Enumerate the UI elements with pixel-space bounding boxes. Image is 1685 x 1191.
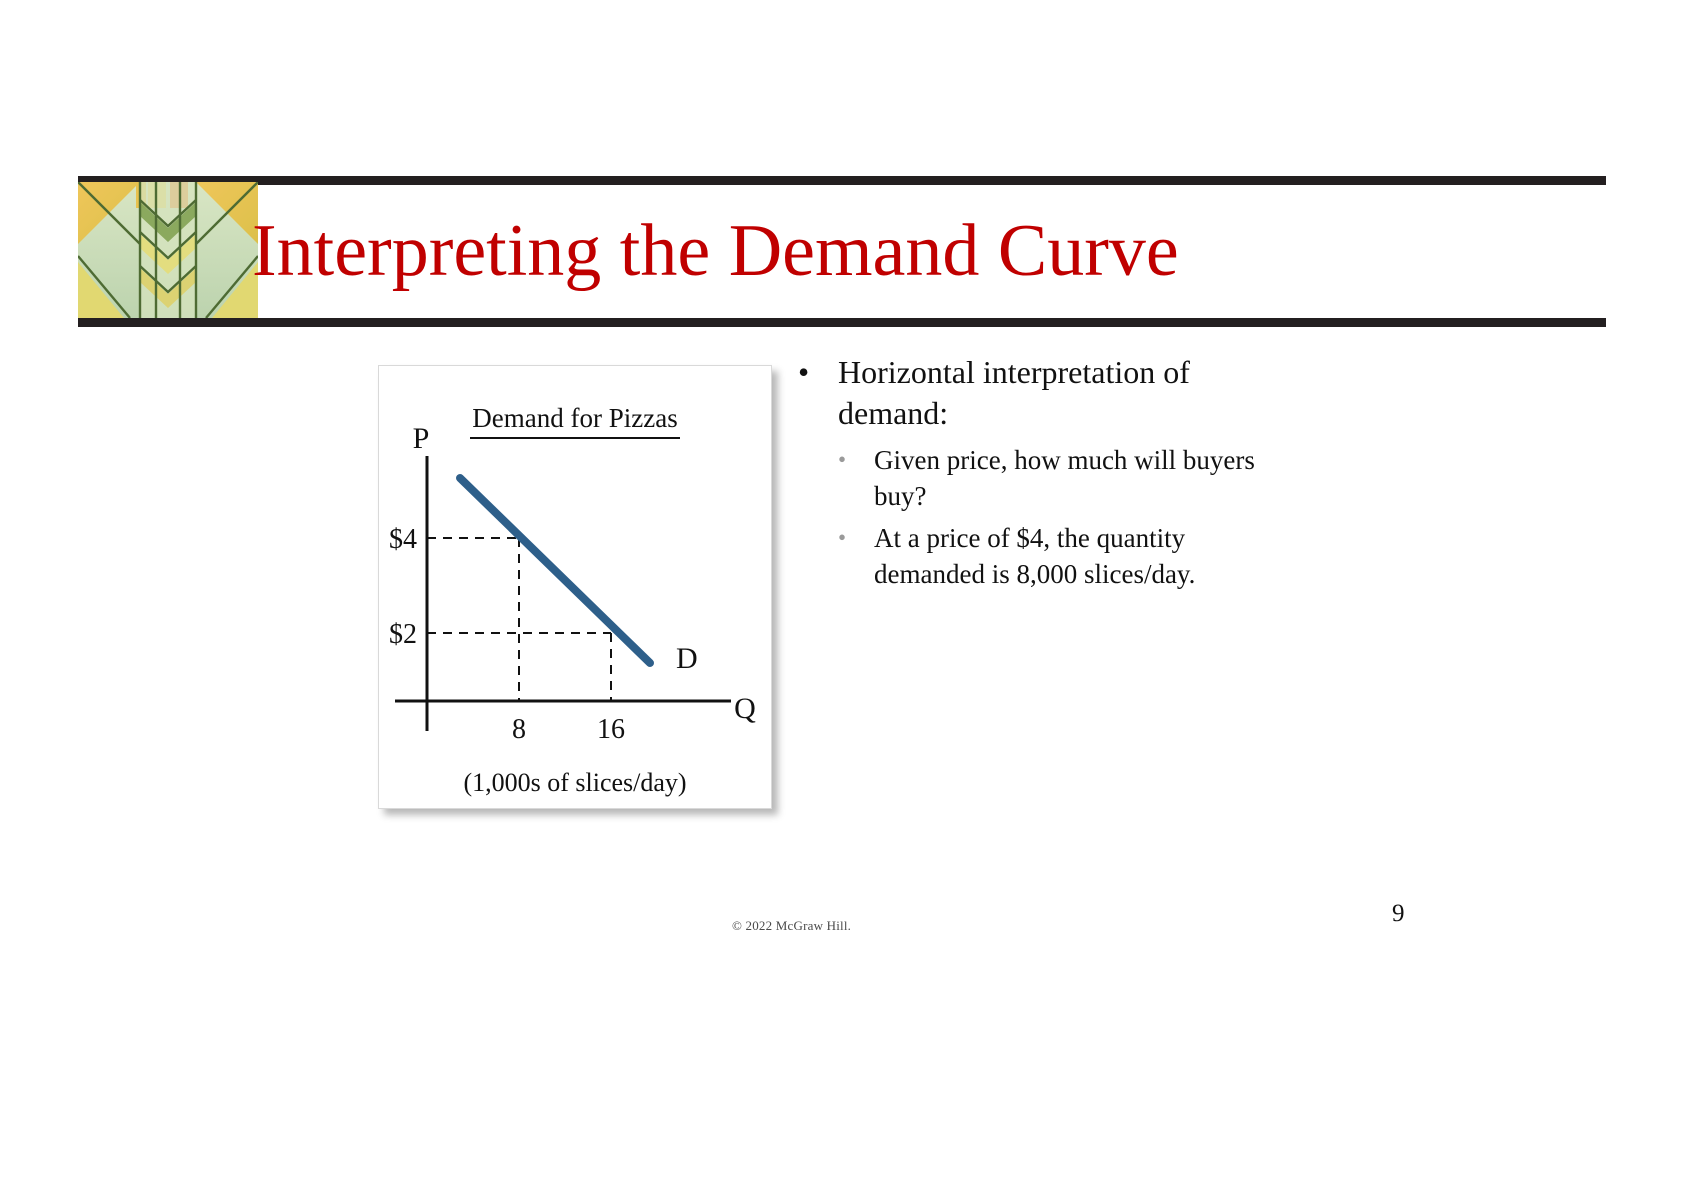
stained-glass-art-deco-panel xyxy=(78,182,258,318)
demand-curve-series-label: D xyxy=(676,642,698,675)
bullet-marker-icon: • xyxy=(798,352,809,393)
slide-canvas: Interpreting the Demand Curve Demand for… xyxy=(0,0,1685,1191)
x-tick-label-16: 16 xyxy=(597,714,625,745)
y-axis-label: P xyxy=(413,426,430,455)
bullet-marker-icon: • xyxy=(838,520,846,556)
bullet-level2-text: At a price of $4, the quantity demanded … xyxy=(874,523,1195,589)
demand-curve-plot: P Q D $4 $2 8 16 xyxy=(379,426,771,756)
bullet-level2-item: • Given price, how much will buyers buy? xyxy=(790,442,1260,514)
banner-rule-bottom xyxy=(78,318,1606,327)
page-title: Interpreting the Demand Curve xyxy=(252,196,1542,306)
banner-rule-top xyxy=(78,176,1606,185)
bullet-level2-text: Given price, how much will buyers buy? xyxy=(874,445,1255,511)
x-axis-caption: (1,000s of slices/day) xyxy=(379,768,771,798)
bullet-level1-text: Horizontal interpretation of demand: xyxy=(838,354,1190,431)
bullet-marker-icon: • xyxy=(838,442,846,478)
y-tick-label-2: $2 xyxy=(389,619,417,650)
copyright-notice: © 2022 McGraw Hill. xyxy=(732,918,851,934)
x-axis-label: Q xyxy=(734,692,756,725)
bullet-level2-item: • At a price of $4, the quantity demande… xyxy=(790,520,1260,592)
bullet-level1-item: • Horizontal interpretation of demand: xyxy=(790,352,1260,434)
y-tick-label-4: $4 xyxy=(389,524,417,555)
bullet-list: • Horizontal interpretation of demand: •… xyxy=(790,352,1260,592)
x-tick-label-8: 8 xyxy=(512,714,526,745)
demand-curve-line xyxy=(460,478,650,663)
demand-chart-panel: Demand for Pizzas P Q D $4 $2 8 16 xyxy=(378,365,772,809)
page-number: 9 xyxy=(1392,900,1405,928)
